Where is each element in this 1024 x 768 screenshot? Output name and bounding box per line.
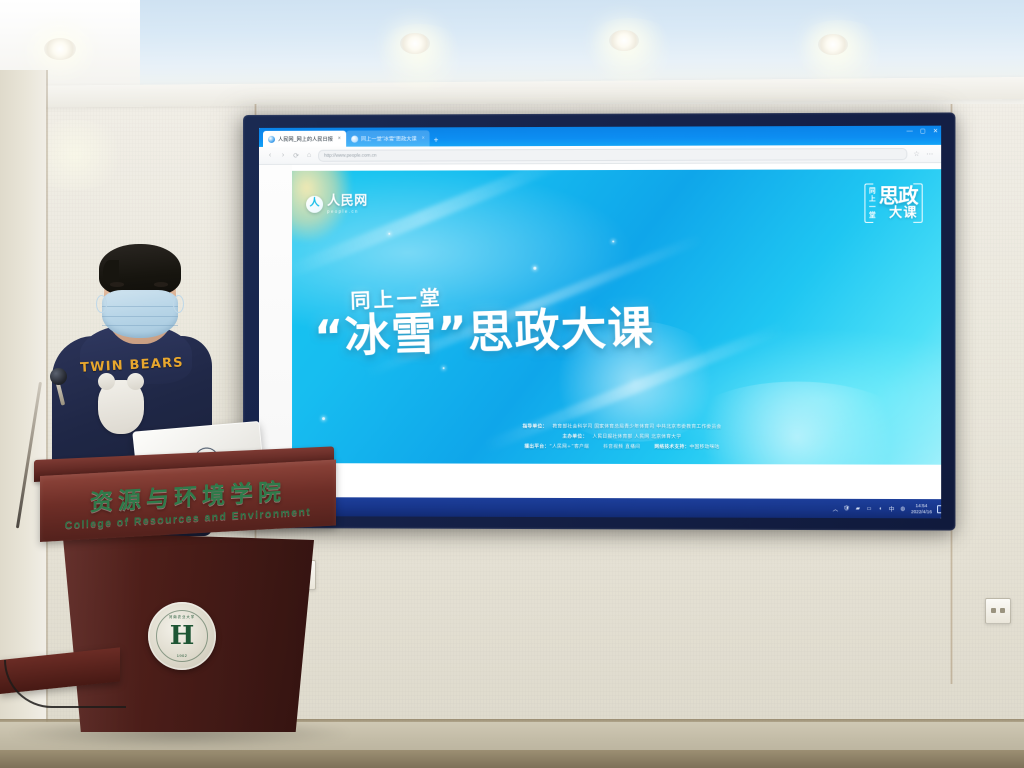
bookmark-star-icon[interactable]: ☆ — [912, 149, 920, 157]
credit-3c: 网络技术支持：中国移动咪咕 — [654, 444, 719, 450]
tray-network-icon[interactable]: ▰ — [855, 505, 861, 511]
sparkle-4 — [443, 367, 445, 369]
clock-date: 2022/4/16 — [911, 509, 932, 514]
tray-display-icon[interactable]: ▭ — [866, 505, 872, 511]
page-favicon-icon — [351, 135, 358, 142]
badge-small-char-4: 堂 — [869, 212, 876, 219]
menu-icon[interactable]: ⋯ — [926, 149, 934, 157]
new-tab-button[interactable]: + — [434, 136, 439, 144]
back-icon[interactable]: ‹ — [266, 151, 274, 159]
badge-line-2: 大课 — [879, 207, 918, 220]
browser-tab-2-label: 同上一堂"冰雪"思政大课 — [361, 135, 417, 142]
logo-english-text: people.cn — [327, 209, 368, 213]
sparkle-1 — [388, 233, 390, 235]
credit-3b-value: 抖音视频 直播间 — [603, 444, 640, 450]
emblem-glyph-icon: H — [170, 623, 195, 649]
logo-mark-glyph: 人 — [310, 199, 320, 209]
credit-line-1: 指导单位： 教育部社会科学司 国家体育总局青少年体育司 中共北京市委教育工作委员… — [522, 423, 721, 429]
badge-big-text: 思政 大课 — [879, 186, 918, 219]
headline-main-suffix: 思政大课 — [467, 301, 654, 359]
address-bar-value: http://www.people.com.cn — [324, 153, 377, 158]
tab-1-close-icon[interactable]: × — [338, 136, 341, 142]
ceiling-downlight-3 — [609, 30, 639, 51]
eye-left — [110, 282, 124, 287]
browser-tabstrip: 人民网_网上的人民日报 × 同上一堂"冰雪"思政大课 × + — ▢ ✕ — [259, 126, 941, 147]
credit-1-label: 指导单位： — [522, 423, 547, 429]
minimize-icon[interactable]: — — [907, 128, 913, 134]
browser-window: 人民网_网上的人民日报 × 同上一堂"冰雪"思政大课 × + — ▢ ✕ — [259, 126, 941, 519]
emblem-inner-ring: 河南农业大学 H 1902 — [156, 610, 208, 662]
lecture-hall-scene: 人民网_网上的人民日报 × 同上一堂"冰雪"思政大课 × + — ▢ ✕ — [0, 0, 1024, 768]
tab-2-close-icon[interactable]: × — [422, 135, 425, 141]
logo-chinese-text: 人民网 — [327, 195, 368, 208]
tray-security-icon[interactable]: 🛡 — [844, 505, 850, 511]
emblem-year-text: 1902 — [157, 653, 207, 658]
window-controls: — ▢ ✕ — [907, 128, 938, 135]
banner-credits: 指导单位： 教育部社会科学司 国家体育总局青少年体育司 中共北京市委教育工作委员… — [332, 423, 914, 450]
forward-icon[interactable]: › — [279, 151, 287, 159]
presentation-display: 人民网_网上的人民日报 × 同上一堂"冰雪"思政大课 × + — ▢ ✕ — [243, 112, 955, 530]
credit-3a-label: 播出平台： — [524, 445, 549, 450]
credit-3a-value: “人民网+”客户端 — [549, 445, 589, 450]
badge-small-char-2: 上 — [869, 196, 876, 203]
people-daily-mark-icon: 人 — [306, 196, 323, 213]
badge-line-1: 思政 — [879, 186, 918, 205]
tray-volume-icon[interactable]: ◖ — [877, 506, 883, 512]
credit-3c-label: 网络技术支持： — [654, 445, 689, 450]
browser-tab-2[interactable]: 同上一堂"冰雪"思政大课 × — [346, 130, 430, 146]
reload-icon[interactable]: ⟳ — [292, 151, 300, 159]
sparkle-5 — [322, 417, 325, 420]
ceiling-downlight-1 — [44, 38, 76, 60]
sparkle-3 — [612, 240, 614, 242]
mask-ear-loop-left — [96, 295, 107, 313]
university-emblem: 河南农业大学 H 1902 — [148, 602, 216, 670]
floor — [0, 750, 1024, 768]
tray-chevron-up-icon[interactable]: ︿ — [832, 505, 838, 511]
campaign-badge: 同 上 一 堂 思政 大课 — [864, 183, 923, 223]
people-daily-logo[interactable]: 人 人民网 people.cn — [306, 195, 368, 214]
badge-small-text: 同 上 一 堂 — [867, 187, 876, 220]
badge-small-char-3: 一 — [869, 204, 876, 211]
headline-main: “冰雪”思政大课 — [314, 297, 922, 360]
browser-tab-1[interactable]: 人民网_网上的人民日报 × — [263, 131, 346, 147]
credit-line-2: 主办单位： 人民日报社体育部 人民网 北京体育大学 — [562, 434, 681, 440]
wall-power-outlet[interactable] — [985, 598, 1011, 624]
ceiling-downlight-2 — [400, 33, 430, 54]
close-icon[interactable]: ✕ — [933, 128, 938, 135]
credit-line-3: 播出平台：“人民网+”客户端 抖音视频 直播间 网络技术支持：中国移动咪咕 — [524, 444, 719, 450]
system-tray: ︿ 🛡 ▰ ▭ ◖ 中 ◍ 14:54 2022/4/16 — [832, 503, 941, 514]
mic-capsule-icon — [50, 368, 67, 385]
credit-1-value: 教育部社会科学司 国家体育总局青少年体育司 中共北京市委教育工作委员会 — [553, 424, 722, 430]
credit-3a: 播出平台：“人民网+”客户端 — [524, 444, 589, 450]
credit-2-label: 主办单位： — [562, 434, 587, 440]
notification-center-icon[interactable] — [937, 505, 941, 513]
tray-battery-icon[interactable]: ◍ — [900, 506, 906, 512]
sparkle-2 — [533, 267, 536, 270]
eye-right — [154, 282, 168, 287]
campaign-banner: 人 人民网 people.cn 同 上 — [292, 169, 941, 465]
credit-2-value: 人民日报社体育部 人民网 北京体育大学 — [593, 434, 682, 440]
browser-toolbar: ‹ › ⟳ ⌂ http://www.people.com.cn ☆ ⋯ — [259, 145, 941, 165]
headline-main-prefix: “冰雪” — [313, 306, 468, 363]
speaker-eyes — [108, 282, 172, 290]
taskbar-clock[interactable]: 14:54 2022/4/16 — [911, 503, 932, 513]
display-screen: 人民网_网上的人民日报 × 同上一堂"冰雪"思政大课 × + — ▢ ✕ — [259, 126, 941, 519]
emblem-arc-text: 河南农业大学 — [157, 614, 207, 619]
browser-tab-1-label: 人民网_网上的人民日报 — [278, 135, 333, 142]
mask-ear-loop-right — [173, 295, 184, 313]
windows-taskbar: ︿ 🛡 ▰ ▭ ◖ 中 ◍ 14:54 2022/4/16 — [259, 497, 941, 518]
credit-3c-value: 中国移动咪咕 — [689, 445, 719, 450]
maximize-icon[interactable]: ▢ — [920, 128, 926, 135]
web-page-content: 人 人民网 people.cn 同 上 — [259, 163, 941, 518]
people-daily-favicon-icon — [268, 135, 275, 142]
home-icon[interactable]: ⌂ — [305, 151, 313, 159]
ceiling-downlight-4 — [818, 34, 848, 55]
face-mask — [102, 290, 178, 338]
banner-headline: 同上一堂 “冰雪”思政大课 — [314, 274, 921, 352]
tray-ime-icon[interactable]: 中 — [889, 506, 895, 512]
address-bar[interactable]: http://www.people.com.cn — [318, 148, 907, 162]
